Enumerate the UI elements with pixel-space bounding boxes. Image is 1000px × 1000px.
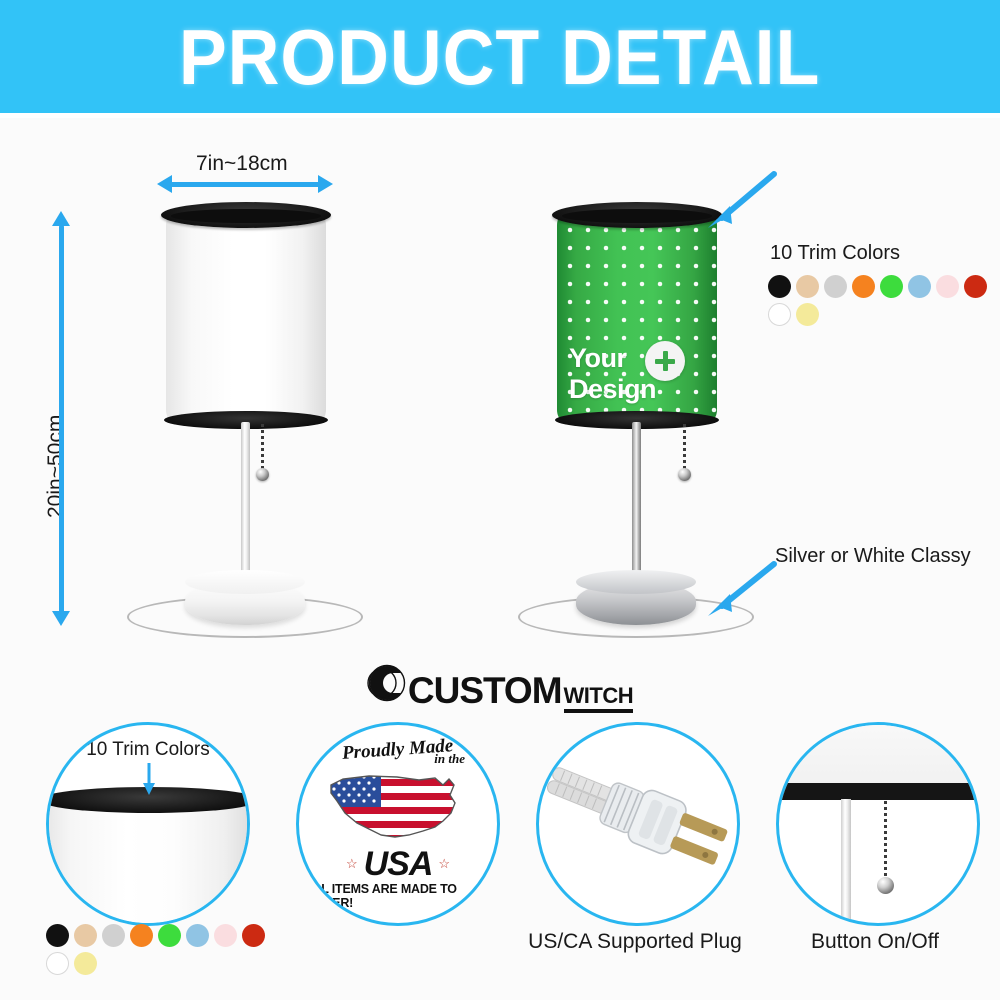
lamp-shade-white (166, 215, 326, 420)
swatch-black[interactable] (46, 924, 69, 947)
swatch-light-blue[interactable] (186, 924, 209, 947)
usa-country-text: USA (364, 847, 433, 881)
swatch-red[interactable] (242, 924, 265, 947)
pull-chain[interactable] (261, 424, 264, 472)
swatch-yellow[interactable] (796, 303, 819, 326)
trim-colors-title: 10 Trim Colors (770, 242, 1000, 265)
pull-chain-ball[interactable] (678, 468, 691, 481)
base-finish-label: Silver or White Classy (775, 545, 971, 568)
lamp-base-top-silver (576, 570, 696, 594)
feature-trim-color-swatch-list (46, 924, 276, 975)
plus-circle-icon[interactable] (645, 341, 685, 381)
swatch-tan[interactable] (74, 924, 97, 947)
logo-primary-text: CUSTOM (408, 670, 562, 712)
pull-chain[interactable] (683, 424, 686, 472)
lamp-base-top-white (185, 570, 305, 594)
star-left-icon: ☆ (346, 856, 358, 872)
your-design-line2: Design (569, 374, 709, 405)
usa-word-row: ☆ USA ☆ (346, 847, 450, 881)
trim-callout-arrow-icon (700, 168, 780, 238)
swatch-white[interactable] (768, 303, 791, 326)
swatch-orange[interactable] (852, 275, 875, 298)
usa-badge: Proudly Made in the (305, 731, 491, 917)
feature-button-circle (776, 722, 980, 926)
your-design-text: Your Design (569, 343, 709, 405)
height-dimension-label: 20in~50cm (44, 415, 68, 518)
height-arrow-up-icon (52, 211, 70, 226)
lamp-shade-green: Your Design (557, 215, 717, 420)
feature-trim-colors-circle: 10 Trim Colors (46, 722, 250, 926)
brand-logo: CUSTOM WITCH (0, 660, 1000, 716)
your-design-line1: Your (569, 343, 709, 374)
base-finish-arrow-icon (700, 558, 780, 628)
shade-surface (166, 215, 326, 420)
trim-color-swatch-list (768, 275, 1000, 326)
width-arrow-left-icon (157, 175, 172, 193)
swatch-yellow[interactable] (74, 952, 97, 975)
power-plug-image (538, 749, 738, 899)
shade-trim-top-inner (171, 209, 321, 223)
star-right-icon: ☆ (438, 856, 450, 872)
logo-secondary-text: WITCH (564, 685, 634, 707)
product-detail-page: PRODUCT DETAIL 7in~18cm 20in~50cm (0, 0, 1000, 1000)
swatch-tan[interactable] (796, 275, 819, 298)
shade-trim-top (552, 202, 722, 228)
trim-colors-group: 10 Trim Colors (768, 242, 1000, 326)
swatch-pink[interactable] (936, 275, 959, 298)
swatch-gray[interactable] (102, 924, 125, 947)
pull-chain-ball-closeup[interactable] (877, 877, 894, 894)
width-arrow-right-icon (318, 175, 333, 193)
usa-map-flag-icon (323, 765, 473, 845)
feature-trim-colors-title: 10 Trim Colors (49, 739, 247, 761)
pull-chain-closeup[interactable] (884, 801, 887, 881)
swatch-white[interactable] (46, 952, 69, 975)
feature-row: 10 Trim Colors (0, 718, 1000, 1000)
shade-trim-top (161, 202, 331, 228)
feature-button-label: Button On/Off (750, 930, 1000, 954)
logo-c-mark-icon (367, 663, 411, 703)
swatch-black[interactable] (768, 275, 791, 298)
width-dimension-line (170, 182, 322, 187)
swatch-red[interactable] (964, 275, 987, 298)
page-header: PRODUCT DETAIL (0, 0, 1000, 113)
height-arrow-down-icon (52, 611, 70, 626)
feature-plug-circle (536, 722, 740, 926)
height-dimension-line (59, 225, 64, 613)
shade-closeup-surface (46, 799, 250, 926)
lamp-showcase: 7in~18cm 20in~50cm (0, 118, 1000, 658)
trim-down-arrow-icon (141, 763, 157, 802)
swatch-green[interactable] (158, 924, 181, 947)
swatch-orange[interactable] (130, 924, 153, 947)
lamp-pole-closeup (841, 799, 851, 925)
usa-badge-subtitle: ALL ITEMS ARE MADE TO ORDER! (305, 882, 491, 910)
swatch-light-blue[interactable] (908, 275, 931, 298)
feature-usa-circle: Proudly Made in the (296, 722, 500, 926)
swatch-green[interactable] (880, 275, 903, 298)
feature-plug-label: US/CA Supported Plug (510, 930, 760, 954)
shade-trim-closeup (776, 783, 980, 800)
width-dimension-label: 7in~18cm (196, 152, 288, 176)
swatch-gray[interactable] (824, 275, 847, 298)
pull-chain-ball[interactable] (256, 468, 269, 481)
shade-trim-top-inner (562, 209, 712, 223)
swatch-pink[interactable] (214, 924, 237, 947)
page-title: PRODUCT DETAIL (179, 18, 820, 96)
logo-underline (564, 709, 634, 713)
